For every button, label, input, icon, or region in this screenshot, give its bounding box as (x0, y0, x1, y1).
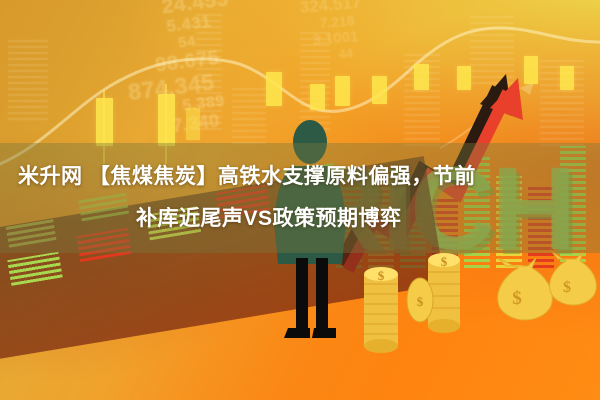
money-illustration: $ $ $ $ $ (330, 238, 600, 378)
svg-text:$: $ (441, 254, 448, 269)
banner-image: 24.453 5.431 54 98.675 874.345 5.389 7.3… (0, 0, 600, 400)
coin-single: $ (407, 278, 433, 322)
candlestick-body (310, 84, 325, 110)
candlestick-body (158, 94, 175, 146)
headline-block: 米升网 【焦煤焦炭】高铁水支撑原料偏强，节前 补库近尾声VS政策预期博弈 (0, 143, 600, 253)
headline-line-1: 米升网 【焦煤焦炭】高铁水支撑原料偏强，节前 (0, 156, 600, 198)
headline-line-1-text: 【焦煤焦炭】高铁水支撑原料偏强，节前 (89, 165, 476, 188)
svg-text:$: $ (378, 268, 385, 283)
money-bag: $ (550, 252, 597, 305)
svg-text:$: $ (417, 294, 424, 309)
headline-line-2: 补库近尾声VS政策预期博弈 (0, 198, 600, 240)
coin-stack: $ (364, 267, 398, 353)
board-row (7, 252, 63, 286)
svg-text:$: $ (563, 279, 571, 296)
site-label: 米升网 (18, 165, 83, 188)
money-bag: $ (498, 258, 553, 320)
svg-text:$: $ (512, 288, 522, 309)
candlestick-body (266, 72, 282, 106)
candlestick-body (96, 98, 113, 146)
candlestick-body (186, 108, 200, 140)
